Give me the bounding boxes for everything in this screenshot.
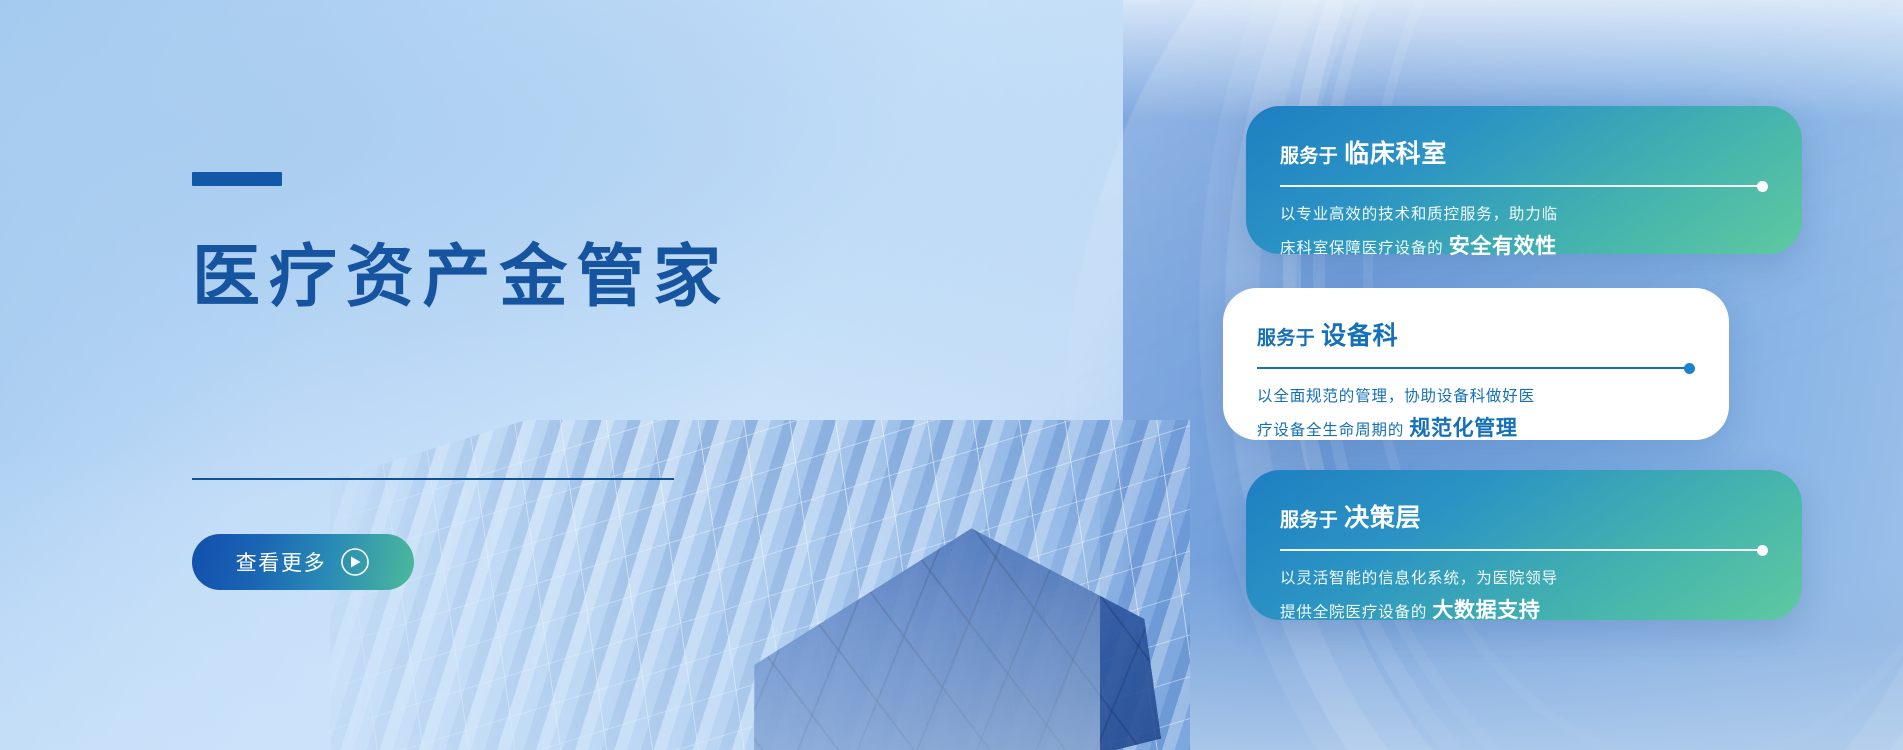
- service-card-line2-plain: 疗设备全生命周期的: [1257, 422, 1404, 439]
- service-card-line2-plain: 床科室保障医疗设备的: [1280, 240, 1444, 257]
- service-card-highlight: 大数据支持: [1432, 599, 1540, 622]
- view-more-label: 查看更多: [236, 547, 327, 577]
- service-card-title: 服务于设备科: [1257, 316, 1695, 352]
- service-card-list: 服务于临床科室 以专业高效的技术和质控服务，助力临 床科室保障医疗设备的 安全有…: [1123, 0, 1903, 750]
- service-card-line2: 提供全院医疗设备的 大数据支持: [1280, 593, 1768, 630]
- service-card-body: 以全面规范的管理，协助设备科做好医 疗设备全生命周期的 规范化管理: [1257, 384, 1695, 448]
- service-card-line1: 以专业高效的技术和质控服务，助力临: [1280, 206, 1558, 223]
- accent-bar: [192, 172, 282, 186]
- service-card-target: 决策层: [1344, 504, 1421, 532]
- service-card-decision[interactable]: 服务于决策层 以灵活智能的信息化系统，为医院领导 提供全院医疗设备的 大数据支持: [1246, 470, 1802, 620]
- service-card-rule: [1280, 545, 1768, 555]
- service-card-target: 临床科室: [1344, 140, 1447, 168]
- service-card-line1: 以全面规范的管理，协助设备科做好医: [1257, 388, 1535, 405]
- hero-left-column: 医疗资产金管家 查看更多: [192, 0, 912, 750]
- service-card-highlight: 规范化管理: [1409, 417, 1517, 440]
- service-card-line2: 床科室保障医疗设备的 安全有效性: [1280, 229, 1768, 266]
- service-card-prefix: 服务于: [1280, 510, 1338, 531]
- hero-divider: [192, 478, 674, 480]
- service-card-title: 服务于决策层: [1280, 498, 1768, 534]
- service-card-target: 设备科: [1321, 322, 1398, 350]
- view-more-button[interactable]: 查看更多: [192, 534, 414, 590]
- hero-banner: 医疗资产金管家 查看更多 服务于临床科室 以专业高效的技术和质控服务，助力临: [0, 0, 1903, 750]
- service-card-highlight: 安全有效性: [1449, 235, 1557, 258]
- rule-line: [1280, 549, 1759, 551]
- service-card-line2: 疗设备全生命周期的 规范化管理: [1257, 411, 1695, 448]
- service-card-rule: [1280, 181, 1768, 191]
- rule-line: [1257, 367, 1686, 369]
- rule-line: [1280, 185, 1759, 187]
- rule-dot-icon: [1684, 363, 1695, 374]
- service-card-prefix: 服务于: [1257, 328, 1315, 349]
- service-card-title: 服务于临床科室: [1280, 134, 1768, 170]
- rule-dot-icon: [1757, 545, 1768, 556]
- page-title: 医疗资产金管家: [192, 240, 730, 315]
- service-card-line1: 以灵活智能的信息化系统，为医院领导: [1280, 570, 1558, 587]
- service-card-clinical[interactable]: 服务于临床科室 以专业高效的技术和质控服务，助力临 床科室保障医疗设备的 安全有…: [1246, 106, 1802, 254]
- service-card-prefix: 服务于: [1280, 146, 1338, 167]
- circle-arrow-right-icon: [340, 547, 370, 577]
- service-card-rule: [1257, 363, 1695, 373]
- service-card-body: 以灵活智能的信息化系统，为医院领导 提供全院医疗设备的 大数据支持: [1280, 566, 1768, 630]
- rule-dot-icon: [1757, 181, 1768, 192]
- service-card-equipment[interactable]: 服务于设备科 以全面规范的管理，协助设备科做好医 疗设备全生命周期的 规范化管理: [1223, 288, 1729, 440]
- service-card-body: 以专业高效的技术和质控服务，助力临 床科室保障医疗设备的 安全有效性: [1280, 202, 1768, 266]
- service-card-line2-plain: 提供全院医疗设备的: [1280, 604, 1427, 621]
